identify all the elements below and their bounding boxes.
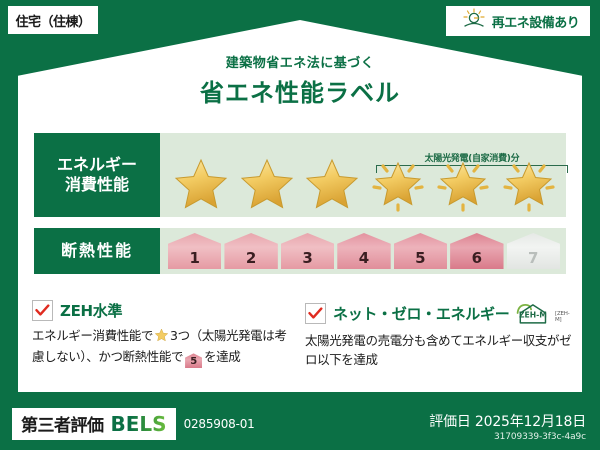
star-solar-icon	[432, 154, 494, 214]
bels-badge: 第三者評価 BELS	[12, 408, 176, 440]
title-subtitle: 建築物省エネ法に基づく	[0, 52, 600, 71]
footer-right: 評価日 2025年12月18日 31709339-3f3c-4a9c	[429, 411, 586, 442]
net-zero-checkbox[interactable]	[305, 303, 326, 324]
bels-logo-text: BELS	[111, 412, 167, 436]
renewable-equipment-label: 再エネ設備あり	[492, 12, 580, 31]
star-rating	[170, 153, 560, 215]
insulation-performance-row: 断熱性能 1 2 3 4 5 6 7	[34, 228, 566, 274]
certificate-number: 0285908-01	[184, 417, 255, 431]
footer-left: 第三者評価 BELS 0285908-01	[12, 408, 255, 440]
star-icon	[170, 154, 232, 214]
insulation-grade-list: 1 2 3 4 5 6 7	[168, 231, 560, 271]
star-solar-icon	[498, 154, 560, 214]
title-main: 省エネ性能ラベル	[0, 73, 600, 108]
star-icon	[301, 154, 363, 214]
insulation-grade-6: 6	[450, 233, 503, 269]
insulation-grade-3: 3	[281, 233, 334, 269]
insulation-grade-4: 4	[337, 233, 390, 269]
insulation-grade-7: 7	[507, 233, 560, 269]
net-zero-energy-criteria-block: ネット・ゼロ・エネルギー ZEH-M [ZEH-M] 太陽光発電の売電分も含めて…	[305, 300, 573, 370]
net-zero-criteria-title: ネット・ゼロ・エネルギー	[333, 303, 509, 324]
zeh-criteria-title: ZEH水準	[60, 300, 122, 321]
star-icon	[236, 154, 298, 214]
zeh-checkbox[interactable]	[32, 300, 53, 321]
zeh-m-logo: ZEH-M [ZEH-M]	[514, 300, 574, 326]
insulation-performance-label-block: 断熱性能	[34, 228, 160, 274]
net-zero-criteria-header: ネット・ゼロ・エネルギー ZEH-M [ZEH-M]	[305, 300, 573, 326]
third-party-label: 第三者評価	[21, 411, 104, 436]
page-title: 建築物省エネ法に基づく 省エネ性能ラベル	[0, 52, 600, 108]
zeh-criteria-description: エネルギー消費性能で3つ（太陽光発電は考慮しない）、かつ断熱性能で5を達成	[32, 326, 290, 368]
dwelling-type-label: 住宅（住棟）	[15, 11, 90, 30]
zeh-desc-part3: を達成	[204, 349, 240, 364]
star-solar-icon	[367, 154, 429, 214]
insulation-label: 断熱性能	[61, 241, 133, 261]
energy-performance-label-block: エネルギー 消費性能	[34, 133, 160, 217]
insulation-grade-1: 1	[168, 233, 221, 269]
insulation-grade-5: 5	[394, 233, 447, 269]
zeh-criteria-header: ZEH水準	[32, 300, 290, 321]
evaluation-date: 評価日 2025年12月18日	[429, 411, 586, 431]
sun-solar-icon	[461, 8, 487, 34]
evaluation-hash: 31709339-3f3c-4a9c	[429, 432, 586, 442]
renewable-equipment-tag: 再エネ設備あり	[446, 6, 590, 36]
insulation-grade-2: 2	[224, 233, 277, 269]
star-icon	[154, 330, 169, 345]
zeh-m-logo-caption: [ZEH-M]	[555, 311, 574, 326]
energy-rating-area: 太陽光発電(自家消費)分	[160, 133, 566, 217]
insulation-rating-area: 1 2 3 4 5 6 7	[160, 228, 566, 274]
energy-label-line2: 消費性能	[65, 175, 129, 195]
net-zero-criteria-description: 太陽光発電の売電分も含めてエネルギー収支がゼロ以下を達成	[305, 331, 573, 370]
zeh-desc-part1: エネルギー消費性能で	[32, 328, 153, 343]
zeh-criteria-block: ZEH水準 エネルギー消費性能で3つ（太陽光発電は考慮しない）、かつ断熱性能で5…	[32, 300, 290, 368]
energy-performance-row: エネルギー 消費性能 太陽光発電(自家消費)分	[34, 133, 566, 217]
energy-label-line1: エネルギー	[57, 155, 137, 175]
insulation-grade-badge-inline: 5	[185, 353, 202, 368]
energy-performance-label: 住宅（住棟） 再エネ設備あり 建築物省エネ法に基づく 省エネ性能ラベル	[0, 0, 600, 450]
svg-text:ZEH-M: ZEH-M	[519, 310, 547, 319]
dwelling-type-tag: 住宅（住棟）	[8, 6, 98, 34]
